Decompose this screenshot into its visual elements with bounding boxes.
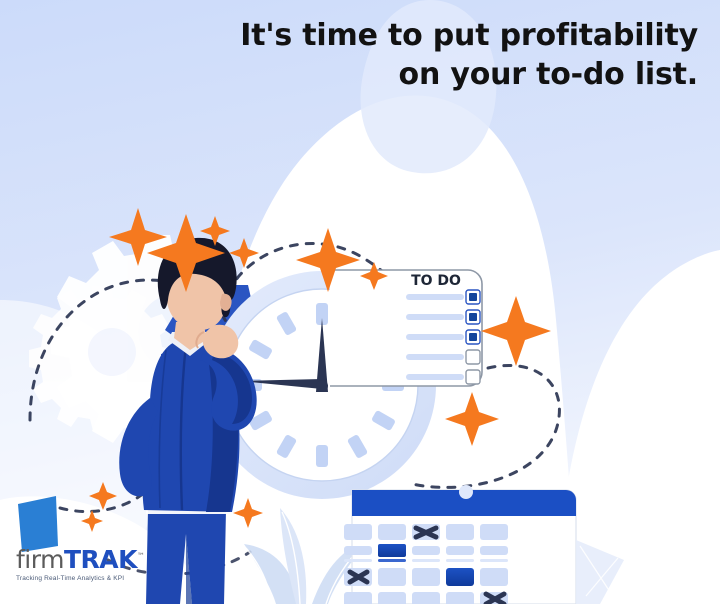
todo-card: TO DO [330, 270, 482, 386]
brand-logo[interactable]: firmTRAK™ Tracking Real-Time Analytics &… [16, 547, 144, 582]
page-title: It's time to put profitability on your t… [178, 16, 698, 94]
logo-tagline: Tracking Real-Time Analytics & KPI [16, 575, 144, 582]
blue-quad-decoration [18, 496, 58, 552]
todo-checkbox-2 [466, 310, 480, 324]
todo-checkbox-5 [466, 370, 480, 384]
todo-checkbox-3 [466, 330, 480, 344]
todo-card-title: TO DO [411, 273, 461, 289]
todo-checkboxes [466, 290, 480, 384]
calendar-ring-hole [459, 485, 473, 499]
logo-wordmark: firmTRAK™ [16, 547, 144, 572]
todo-checkbox-1 [466, 290, 480, 304]
trademark-icon: ™ [137, 552, 145, 561]
logo-word-trak: TRAK [64, 545, 137, 574]
todo-checkbox-4 [466, 350, 480, 364]
logo-word-firm: firm [16, 545, 64, 574]
poster-canvas: TO DO [0, 0, 720, 604]
